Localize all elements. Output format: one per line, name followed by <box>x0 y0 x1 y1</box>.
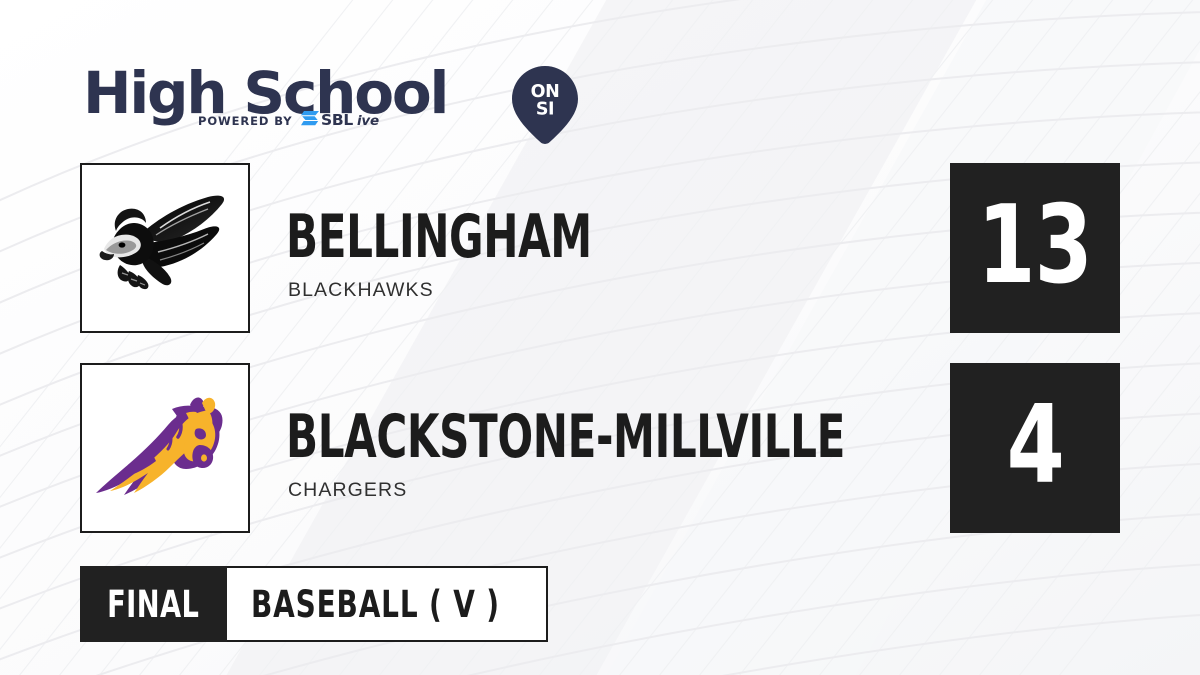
team-name: BELLINGHAM <box>286 207 592 267</box>
status-bar: FINAL BASEBALL ( V ) <box>80 566 548 642</box>
team-score-box: 4 <box>950 363 1120 533</box>
blackhawk-eagle-logo <box>90 173 240 323</box>
sport-label-box: BASEBALL ( V ) <box>227 566 548 642</box>
team-mascot: BLACKHAWKS <box>288 279 434 302</box>
team-score: 4 <box>1006 392 1063 500</box>
location-pin-icon: ON SI <box>512 66 578 144</box>
team-mascot: CHARGERS <box>288 479 407 502</box>
team-logo-box <box>80 363 250 533</box>
powered-by-label: POWERED BY <box>198 116 292 128</box>
team-row: BLACKSTONE-MILLVILLE CHARGERS 4 <box>80 363 1120 533</box>
game-status-label: FINAL <box>107 583 199 626</box>
sport-label: BASEBALL ( V ) <box>251 583 500 626</box>
sblive-logo: SBL ive <box>301 109 401 134</box>
sblive-sbl-text: SBL <box>321 111 353 129</box>
team-name: BLACKSTONE-MILLVILLE <box>286 407 845 467</box>
powered-by-block: POWERED BY SBL ive <box>198 109 401 134</box>
team-score: 13 <box>978 192 1093 300</box>
sblive-ive-text: ive <box>357 113 379 129</box>
brand-header: High School ON SI POWERED BY <box>80 30 510 135</box>
team-logo-box <box>80 163 250 333</box>
team-score-box: 13 <box>950 163 1120 333</box>
pin-label-si: SI <box>536 100 554 120</box>
game-status-badge: FINAL <box>80 566 227 642</box>
team-row: BELLINGHAM BLACKHAWKS 13 <box>80 163 1120 333</box>
charger-horse-lightning-logo <box>90 373 240 523</box>
